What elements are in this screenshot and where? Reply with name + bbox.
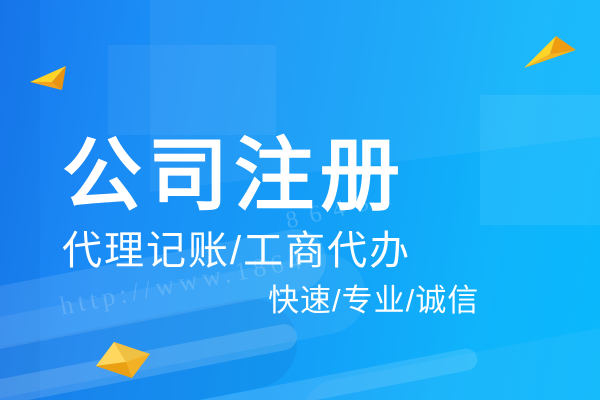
banner-tagline: 快速/专业/诚信 (268, 285, 479, 316)
banner-subline: 代理记账/工商代办 (62, 231, 411, 271)
headline-stack: 公司注册 代理记账/工商代办 快速/专业/诚信 (0, 0, 600, 400)
promo-banner: http://www.1864 8 6 4 3 1 公司注册 代理记账/工商代办… (0, 0, 600, 400)
banner-headline: 公司注册 (62, 136, 406, 216)
